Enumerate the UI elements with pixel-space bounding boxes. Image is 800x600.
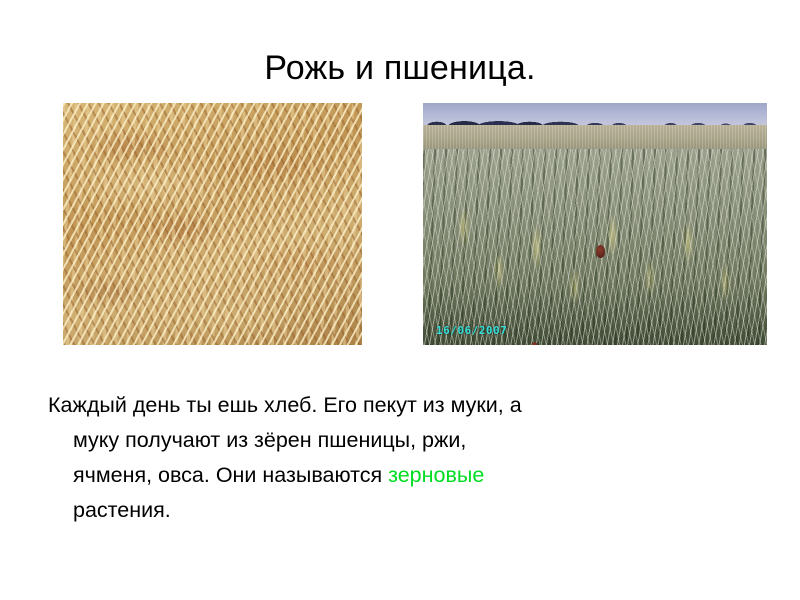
flower-accent [596,245,605,258]
body-line-3: ячменя, овса. Они называются зерновые [48,458,748,493]
body-line-3-prefix: ячменя, овса. Они называются [73,463,388,487]
body-line-1: Каждый день ты ешь хлеб. Его пекут из му… [48,388,748,423]
photo-timestamp: 16/06/2007 [436,324,507,337]
flower-accent [531,342,538,345]
body-text-block: Каждый день ты ешь хлеб. Его пекут из му… [48,388,748,528]
far-field-region [423,125,767,151]
highlighted-term: зерновые [388,463,484,487]
wheat-closeup-texture [63,103,362,345]
presentation-slide: Рожь и пшеница. 16/06/2007 Каждый день т… [0,0,800,600]
near-wheat-region [423,149,767,345]
body-line-4: растения. [48,493,748,528]
image-wheat-field: 16/06/2007 [423,103,767,345]
image-wheat-closeup [63,103,362,345]
page-title: Рожь и пшеница. [0,48,800,88]
body-line-2: муку получают из зёрен пшеницы, ржи, [48,423,748,458]
